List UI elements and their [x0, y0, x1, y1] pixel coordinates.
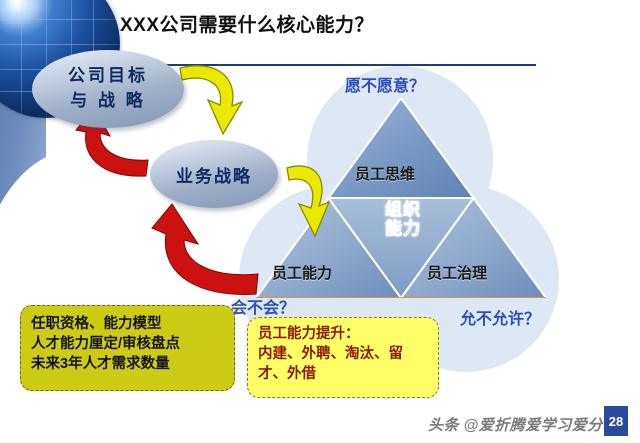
callout-employee-capability-improvement[interactable]: 员工能力提升： 内建、外聘、淘汰、留 才、外借 — [247, 317, 439, 398]
yellow-arrow-goal-to-business — [168, 58, 258, 144]
yellow-arrow-business-to-triangle — [283, 160, 343, 244]
watermark-text: 头条 @爱折腾爱学习爱分享 — [428, 414, 618, 435]
page-number-badge: 28 — [604, 406, 628, 436]
ellipse-company-goal-strategy[interactable]: 公司目标 与 战 略 — [32, 50, 184, 128]
question-label-willingness: 愿不愿意？ — [345, 72, 425, 96]
callout-talent-requirements[interactable]: 任职资格、能力模型 人才能力厘定/审核盘点 未来3年人才需求数量 — [20, 305, 235, 391]
callout-right-line-2: 内建、外聘、淘汰、留 — [258, 344, 428, 364]
ellipse-1-line-1: 公司目标 — [68, 64, 148, 89]
ellipse-1-line-2: 与 战 略 — [70, 89, 145, 114]
callout-left-line-2: 人才能力厘定/审核盘点 — [31, 334, 224, 354]
callout-left-line-3: 未来3年人才需求数量 — [31, 354, 224, 374]
background-swoosh-secondary — [0, 150, 120, 443]
ellipse-2-label: 业务战略 — [176, 162, 252, 187]
callout-left-line-1: 任职资格、能力模型 — [31, 314, 224, 334]
core-label-line-2: 能力 — [366, 219, 440, 238]
triangle-label-employee-ability: 员工能力 — [272, 262, 332, 283]
slide-canvas: XXX公司需要什么核心能力？ — [0, 0, 640, 443]
question-label-permission: 允不允许？ — [460, 305, 540, 329]
red-arrow-triangle-to-business — [152, 198, 272, 298]
core-label-line-1: 组织 — [366, 200, 440, 219]
slide-title: XXX公司需要什么核心能力？ — [120, 10, 374, 37]
callout-right-line-1: 员工能力提升： — [258, 324, 428, 344]
callout-right-line-3: 才、外借 — [258, 364, 428, 384]
triangle-center-organization-capability: 组织 能力 — [366, 200, 440, 238]
triangle-label-employee-thinking: 员工思维 — [355, 163, 415, 184]
ellipse-business-strategy[interactable]: 业务战略 — [150, 140, 278, 208]
triangle-label-employee-governance: 员工治理 — [427, 262, 487, 283]
